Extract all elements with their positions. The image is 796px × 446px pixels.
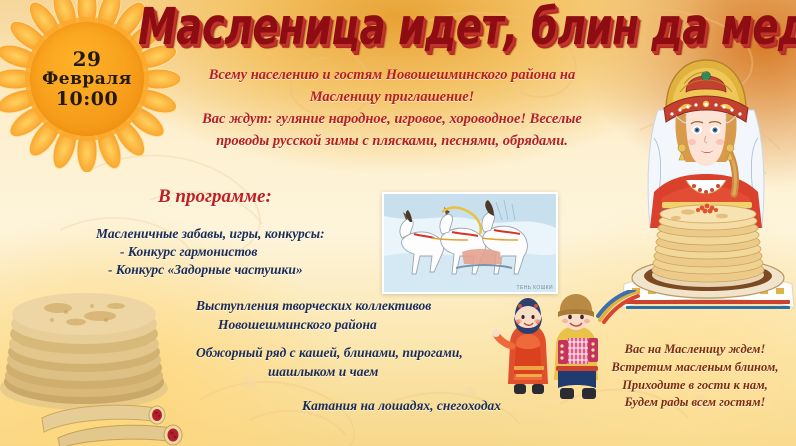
folk-woman — [492, 298, 548, 394]
jam-blini-rolls-illustration — [36, 392, 196, 446]
program-item-6: шашлыком и чаем — [268, 364, 378, 380]
date-badge-text: 29 Февраля 10:00 — [30, 22, 144, 136]
program-item-5: Обжорный ряд с кашей, блинами, пирогами, — [196, 345, 463, 361]
troika-horses-illustration: ТЕНЬ КОШКИ — [382, 192, 558, 294]
date-month: Февраля — [42, 70, 132, 89]
closing-line-1: Вас на Масленицу ждем! — [602, 341, 788, 359]
program-item-4: Новошешминского района — [218, 317, 377, 333]
invitation-line-4: проводы русской зимы с плясками, песнями… — [152, 130, 632, 152]
date-day: 29 — [73, 48, 102, 70]
poster-title: Масленица идет, блин да мед несет — [138, 0, 788, 57]
closing-line-3: Приходите в гости к нам, — [602, 377, 788, 395]
program-heading: В программе: — [158, 186, 272, 208]
program-item-7: Катания на лошадях, снегоходах — [302, 398, 501, 414]
invitation-line-2: Масленицу приглашение! — [152, 86, 632, 108]
closing-verse: Вас на Масленицу ждем! Встретим масленым… — [602, 341, 788, 412]
closing-line-4: Будем рады всем гостям! — [602, 394, 788, 412]
program-item-3: Выступления творческих коллективов — [196, 298, 431, 314]
folk-man-accordion — [554, 294, 598, 399]
closing-line-2: Встретим масленым блином, — [602, 359, 788, 377]
invitation-text: Всему населению и гостям Новошешминского… — [152, 64, 632, 152]
program-item-1: - Конкурс гармонистов — [120, 244, 257, 260]
date-time: 10:00 — [56, 89, 118, 110]
program-item-0: Масленичные забавы, игры, конкурсы: — [96, 226, 325, 242]
invitation-line-1: Всему населению и гостям Новошешминского… — [152, 64, 632, 86]
maslenitsa-poster: 29 Февраля 10:00 Масленица идет, блин да… — [0, 0, 796, 446]
invitation-line-3: Вас ждут: гуляние народное, игровое, хор… — [152, 108, 632, 130]
blini-stack-platter-illustration — [618, 196, 796, 320]
illustration-caption: ТЕНЬ КОШКИ — [516, 285, 553, 291]
ribbon-fan-decoration — [596, 290, 640, 324]
